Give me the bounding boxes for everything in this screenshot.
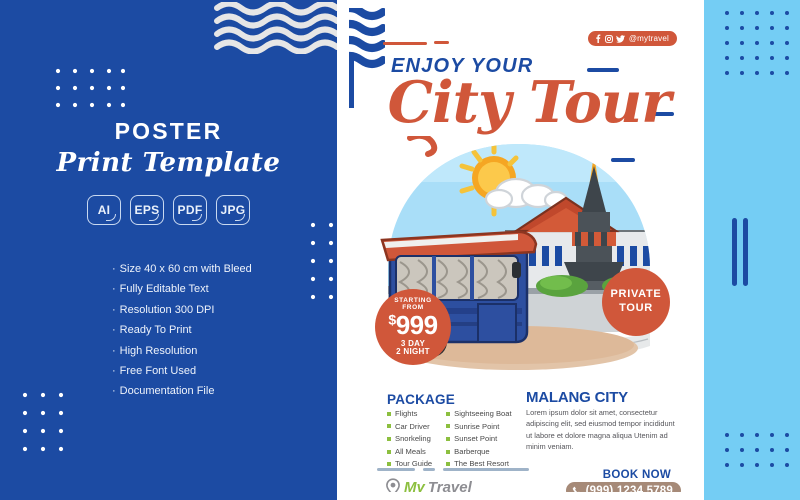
promo-title: POSTER	[0, 118, 337, 145]
feature-text: Size 40 x 60 cm with Bleed	[120, 263, 252, 275]
bullet-marker: ·	[112, 283, 116, 295]
package-item-text: Flights	[395, 408, 417, 420]
format-badge-jpg: JPG	[216, 195, 250, 225]
list-item: Snorkeling	[387, 433, 432, 445]
facebook-icon	[595, 34, 601, 43]
dot-grid-bottom-left	[22, 392, 68, 454]
left-info-panel: POSTER Print Template AI EPS PDF JPG ·Si…	[0, 0, 337, 500]
price-nights: 2 NIGHT	[396, 348, 430, 356]
twitter-icon	[616, 35, 625, 43]
square-bullet-icon	[387, 462, 391, 466]
headline-script: City Tour	[379, 74, 679, 131]
square-bullet-icon	[446, 412, 450, 416]
package-item-text: Sunset Point	[454, 433, 497, 445]
poster-template-preview: POSTER Print Template AI EPS PDF JPG ·Si…	[0, 0, 800, 500]
list-item: ·Resolution 300 DPI	[112, 300, 337, 320]
dot-grid-bottom-right	[724, 432, 790, 472]
right-decoration-panel	[704, 0, 800, 500]
square-bullet-icon	[446, 437, 450, 441]
price-badge: STARTING FROM $999 3 DAY 2 NIGHT	[375, 289, 451, 365]
social-handle-text: @mytravel	[629, 34, 669, 43]
footer-dash	[443, 468, 529, 471]
package-item-text: Snorkeling	[395, 433, 431, 445]
phone-badge[interactable]: (999) 1234 5789	[566, 482, 681, 492]
promo-subtitle: Print Template	[0, 148, 337, 178]
feature-text: Resolution 300 DPI	[120, 304, 215, 316]
square-bullet-icon	[387, 450, 391, 454]
file-format-badges: AI EPS PDF JPG	[0, 195, 337, 225]
brand-logo: MyTravel	[385, 478, 472, 492]
price-currency: $	[388, 311, 395, 327]
price-value: 999	[396, 310, 438, 340]
package-column-1: Flights Car Driver Snorkeling All Meals …	[387, 408, 432, 470]
phone-number: (999) 1234 5789	[586, 485, 673, 493]
promo-heading-group: POSTER Print Template AI EPS PDF JPG	[0, 118, 337, 225]
package-item-text: Barberque	[454, 446, 489, 458]
map-pin-icon	[385, 478, 401, 492]
logo-my: My	[404, 479, 425, 493]
list-item: ·Size 40 x 60 cm with Bleed	[112, 259, 337, 279]
package-column-2: Sightseeing Boat Sunrise Point Sunset Po…	[446, 408, 511, 470]
format-badge-eps: EPS	[130, 195, 164, 225]
list-item: ·Documentation File	[112, 381, 337, 401]
poster-artwork: @mytravel ENJOY YOUR City Tour	[349, 8, 689, 492]
square-bullet-icon	[387, 424, 391, 428]
vertical-bars-decoration	[732, 218, 748, 286]
private-tour-line-1: PRIVATE	[611, 288, 662, 302]
package-list: Flights Car Driver Snorkeling All Meals …	[387, 408, 512, 470]
feature-text: Fully Editable Text	[120, 283, 209, 295]
dot-grid-top-left	[55, 68, 125, 118]
instagram-icon	[605, 35, 613, 43]
price-amount: $999	[388, 312, 437, 338]
social-handle-badge[interactable]: @mytravel	[588, 31, 677, 46]
bullet-marker: ·	[112, 365, 116, 377]
list-item: Flights	[387, 408, 432, 420]
bullet-marker: ·	[112, 345, 116, 357]
dash-decoration	[383, 42, 427, 45]
bullet-marker: ·	[112, 263, 116, 275]
book-now-label: BOOK NOW	[603, 469, 671, 481]
feature-list: ·Size 40 x 60 cm with Bleed ·Fully Edita…	[112, 259, 337, 402]
list-item: ·Ready To Print	[112, 320, 337, 340]
list-item: ·Free Font Used	[112, 361, 337, 381]
bullet-marker: ·	[112, 324, 116, 336]
private-tour-line-2: TOUR	[619, 302, 653, 316]
feature-text: High Resolution	[120, 345, 198, 357]
package-item-text: Sightseeing Boat	[454, 408, 511, 420]
city-section-title: MALANG CITY	[526, 389, 628, 406]
logo-travel: Travel	[428, 479, 472, 493]
list-item: Barberque	[446, 446, 511, 458]
list-item: Sightseeing Boat	[446, 408, 511, 420]
dash-decoration	[434, 41, 449, 44]
square-bullet-icon	[387, 412, 391, 416]
feature-text: Free Font Used	[120, 365, 196, 377]
package-item-text: Sunrise Point	[454, 421, 499, 433]
list-item: Car Driver	[387, 421, 432, 433]
footer-dash	[377, 468, 415, 471]
format-badge-pdf: PDF	[173, 195, 207, 225]
city-description: Lorem ipsum dolor sit amet, consectetur …	[526, 407, 676, 453]
package-item-text: All Meals	[395, 446, 426, 458]
vertical-bar	[743, 218, 748, 286]
wave-lines-decoration	[213, 2, 337, 54]
dot-grid-top-right	[724, 10, 790, 76]
square-bullet-icon	[446, 424, 450, 428]
list-item: ·High Resolution	[112, 341, 337, 361]
vertical-bar	[732, 218, 737, 286]
square-bullet-icon	[446, 450, 450, 454]
phone-icon	[572, 486, 582, 493]
package-section-title: PACKAGE	[387, 392, 455, 407]
list-item: ·Fully Editable Text	[112, 279, 337, 299]
package-item-text: Car Driver	[395, 421, 430, 433]
list-item: Sunset Point	[446, 433, 511, 445]
feature-text: Ready To Print	[120, 324, 192, 336]
list-item: All Meals	[387, 446, 432, 458]
format-badge-ai: AI	[87, 195, 121, 225]
bullet-marker: ·	[112, 385, 116, 397]
list-item: Sunrise Point	[446, 421, 511, 433]
feature-text: Documentation File	[120, 385, 215, 397]
bullet-marker: ·	[112, 304, 116, 316]
footer-dash	[423, 468, 435, 471]
square-bullet-icon	[387, 437, 391, 441]
private-tour-badge: PRIVATE TOUR	[602, 268, 670, 336]
square-bullet-icon	[446, 462, 450, 466]
